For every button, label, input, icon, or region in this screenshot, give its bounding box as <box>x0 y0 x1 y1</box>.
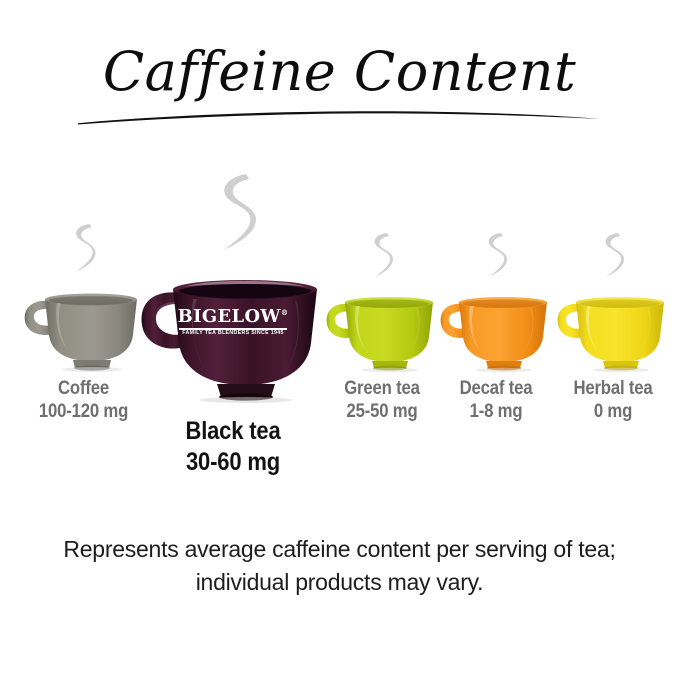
title-swash-underline <box>0 100 679 134</box>
footer-line-2: individual products may vary. <box>0 566 679 599</box>
page-title: Caffeine Content <box>0 44 679 101</box>
cup-label-black-tea: Black tea 30-60 mg <box>128 417 338 478</box>
cup-graphic-black-tea: BIGELOW® FAMILY TEA BLENDERS SINCE 1945 <box>137 257 329 405</box>
cup-item-decaf-tea[interactable]: Decaf tea 1-8 mg <box>434 282 558 424</box>
cup-name-green-tea: Green tea <box>327 378 436 400</box>
cup-amount-herbal-tea: 0 mg <box>558 400 669 424</box>
footer-note: Represents average caffeine content per … <box>0 533 679 598</box>
cup-shape-herbal-tea <box>554 282 672 372</box>
cup-item-green-tea[interactable]: Green tea 25-50 mg <box>320 282 444 424</box>
cup-graphic-green-tea <box>323 282 441 372</box>
steam-icon <box>366 230 398 282</box>
steam-icon <box>480 230 512 282</box>
cup-name-black-tea: Black tea <box>141 417 326 447</box>
steam-icon <box>67 221 101 277</box>
footer-line-1: Represents average caffeine content per … <box>0 533 679 566</box>
cup-graphic-decaf-tea <box>437 282 555 372</box>
steam-icon <box>597 230 629 282</box>
cup-label-decaf-tea: Decaf tea 1-8 mg <box>434 378 558 424</box>
cup-shape-decaf-tea <box>437 282 555 372</box>
infographic-canvas: Caffeine Content <box>0 0 679 679</box>
cup-shape-black-tea <box>137 257 329 405</box>
cup-item-black-tea[interactable]: BIGELOW® FAMILY TEA BLENDERS SINCE 1945 … <box>128 257 338 478</box>
cup-amount-decaf-tea: 1-8 mg <box>441 400 550 424</box>
cup-graphic-herbal-tea <box>554 282 672 372</box>
cup-name-herbal-tea: Herbal tea <box>558 378 669 400</box>
cup-amount-black-tea: 30-60 mg <box>141 447 326 478</box>
cup-label-green-tea: Green tea 25-50 mg <box>320 378 444 424</box>
page-title-block: Caffeine Content <box>0 44 679 101</box>
cup-amount-green-tea: 25-50 mg <box>327 400 436 424</box>
cup-name-decaf-tea: Decaf tea <box>441 378 550 400</box>
steam-icon <box>211 171 263 257</box>
cup-item-herbal-tea[interactable]: Herbal tea 0 mg <box>550 282 676 424</box>
cup-row: Coffee 100-120 mg <box>0 196 679 496</box>
cup-label-herbal-tea: Herbal tea 0 mg <box>550 378 676 424</box>
cup-shape-green-tea <box>323 282 441 372</box>
